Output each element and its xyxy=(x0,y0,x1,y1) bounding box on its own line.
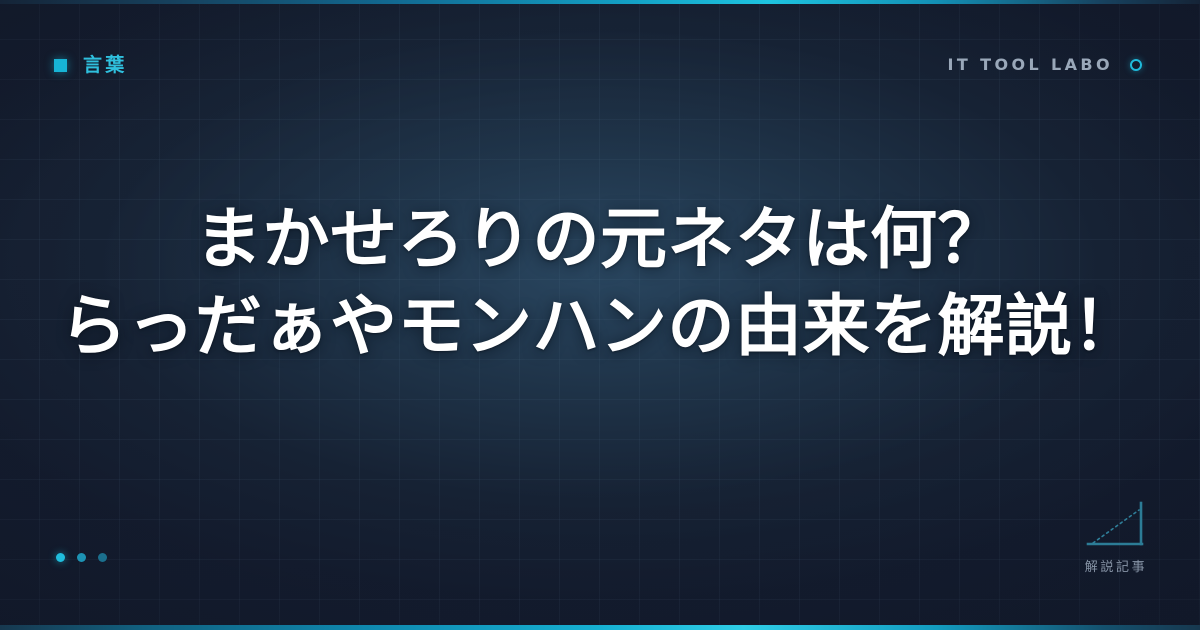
dot-indicator-2 xyxy=(77,553,86,562)
title-block: まかせろりの元ネタは何？ らっだぁやモンハンの由来を解説！ xyxy=(0,196,1200,370)
bottom-accent-bar xyxy=(0,625,1200,630)
category-label: 言葉 xyxy=(83,56,127,75)
dot-indicator-3 xyxy=(98,553,107,562)
dot-indicator-1 xyxy=(56,553,65,562)
square-marker-icon xyxy=(54,59,67,72)
ring-icon xyxy=(1130,59,1142,71)
brand-name: IT TOOL LABO xyxy=(948,57,1114,73)
ogp-card: 言葉 IT TOOL LABO まかせろりの元ネタは何？ らっだぁやモンハンの由… xyxy=(0,0,1200,630)
brand-logo: IT TOOL LABO xyxy=(948,57,1143,73)
motif-caption: 解説記事 xyxy=(1085,561,1147,574)
growth-graph-icon xyxy=(1084,500,1148,550)
article-type-motif: 解説記事 xyxy=(1084,500,1148,574)
decorative-dots xyxy=(56,553,107,562)
category-badge: 言葉 xyxy=(54,56,127,75)
title-line-2: らっだぁやモンハンの由来を解説！ xyxy=(60,283,1140,370)
header: 言葉 IT TOOL LABO xyxy=(0,0,1200,130)
title-line-1: まかせろりの元ネタは何？ xyxy=(195,196,1005,283)
